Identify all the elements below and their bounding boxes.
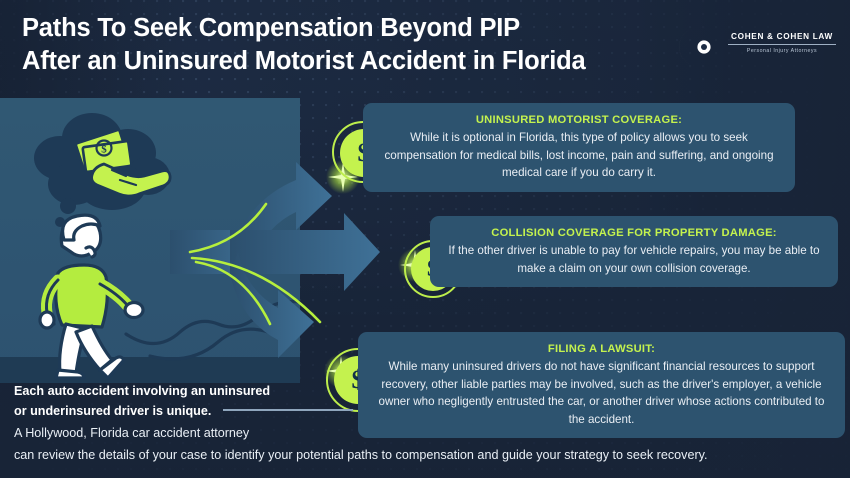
card-title: COLLISION COVERAGE FOR PROPERTY DAMAGE: [444,225,824,241]
title-line-2: After an Uninsured Motorist Accident in … [22,45,722,78]
title-line-1: Paths To Seek Compensation Beyond PIP [22,14,520,42]
brand-logo[interactable]: COHEN & COHEN LAW Personal Injury Attorn… [676,22,836,74]
accent-rule [223,409,353,411]
card-body: If the other driver is unable to pay for… [444,242,824,277]
card-collision-coverage[interactable]: COLLISION COVERAGE FOR PROPERTY DAMAGE: … [430,216,838,287]
bottom-regular-line-1: A Hollywood, Florida car accident attorn… [14,423,850,443]
bottom-strong-line-2: or underinsured driver is unique. [14,404,211,418]
person-figure-icon [40,215,143,378]
logo-divider [728,44,836,45]
bottom-strong-line-2-row: or underinsured driver is unique. [14,402,850,422]
bottom-strong-line-1: Each auto accident involving an uninsure… [14,382,850,402]
page-title: Paths To Seek Compensation Beyond PIP Af… [22,12,722,78]
card-title: FILING A LAWSUIT: [372,341,831,357]
card-body: While it is optional in Florida, this ty… [377,129,781,182]
bottom-text-block: Each auto accident involving an uninsure… [14,382,850,465]
header: Paths To Seek Compensation Beyond PIP Af… [0,0,850,100]
card-title: UNINSURED MOTORIST COVERAGE: [377,112,781,128]
logo-name: COHEN & COHEN LAW [728,32,836,41]
infographic-canvas: Paths To Seek Compensation Beyond PIP Af… [0,0,850,478]
double-c-monogram-icon [676,24,722,70]
logo-text-block: COHEN & COHEN LAW Personal Injury Attorn… [728,32,836,54]
card-uninsured-motorist-coverage[interactable]: UNINSURED MOTORIST COVERAGE: While it is… [363,103,795,192]
svg-text:$: $ [101,144,107,156]
logo-tagline: Personal Injury Attorneys [728,48,836,54]
bottom-regular-line-2: can review the details of your case to i… [14,445,850,465]
